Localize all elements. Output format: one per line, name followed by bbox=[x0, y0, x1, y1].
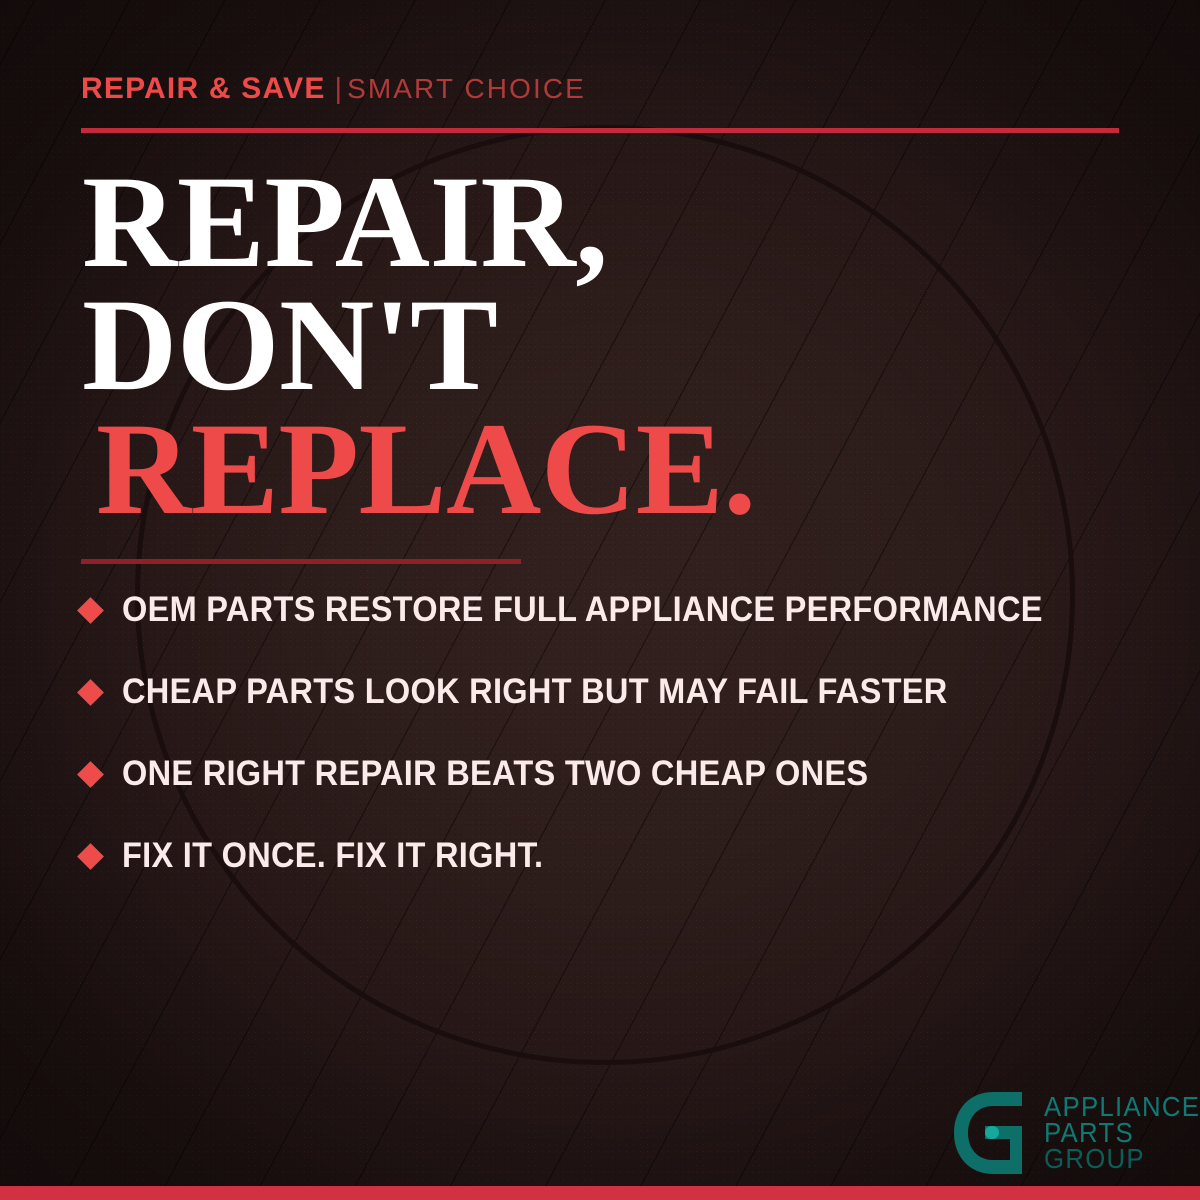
diamond-bullet-icon bbox=[77, 761, 104, 788]
list-item-label: CHEAP PARTS LOOK RIGHT BUT MAY FAIL FAST… bbox=[122, 672, 948, 712]
list-item-label: FIX IT ONCE. FIX IT RIGHT. bbox=[122, 836, 543, 876]
brand-logo-wordmark: APPLIANCE PARTS GROUP bbox=[1044, 1092, 1200, 1172]
headline-line-3-accent: REPLACE. bbox=[82, 407, 756, 530]
g-monogram-icon bbox=[952, 1092, 1030, 1174]
headline-line-1: REPAIR, bbox=[82, 160, 756, 283]
poster-content: REPAIR & SAVE|SMART CHOICE REPAIR, DON'T… bbox=[0, 0, 1200, 1200]
list-item-label: ONE RIGHT REPAIR BEATS TWO CHEAP ONES bbox=[122, 754, 868, 794]
brand-line-3: GROUP bbox=[1044, 1146, 1200, 1172]
headline: REPAIR, DON'T REPLACE. bbox=[82, 160, 756, 530]
headline-line-2: DON'T bbox=[82, 283, 756, 406]
promo-poster: REPAIR & SAVE|SMART CHOICE REPAIR, DON'T… bbox=[0, 0, 1200, 1200]
list-item: FIX IT ONCE. FIX IT RIGHT. bbox=[81, 834, 1151, 878]
list-item: OEM PARTS RESTORE FULL APPLIANCE PERFORM… bbox=[81, 588, 1151, 632]
eyebrow-strong-text: REPAIR & SAVE bbox=[81, 72, 326, 105]
list-item: CHEAP PARTS LOOK RIGHT BUT MAY FAIL FAST… bbox=[81, 670, 1151, 714]
eyebrow-separator: | bbox=[335, 73, 343, 105]
eyebrow-soft-text: SMART CHOICE bbox=[347, 73, 586, 104]
top-divider-rule bbox=[81, 128, 1119, 133]
list-item-label: OEM PARTS RESTORE FULL APPLIANCE PERFORM… bbox=[122, 590, 1043, 630]
list-item: ONE RIGHT REPAIR BEATS TWO CHEAP ONES bbox=[81, 752, 1151, 796]
bottom-accent-bar bbox=[0, 1186, 1200, 1200]
mid-divider-rule bbox=[81, 559, 521, 564]
benefits-list: OEM PARTS RESTORE FULL APPLIANCE PERFORM… bbox=[81, 588, 1151, 878]
logo-dot-icon bbox=[985, 1126, 999, 1139]
eyebrow: REPAIR & SAVE|SMART CHOICE bbox=[81, 74, 586, 104]
diamond-bullet-icon bbox=[77, 679, 104, 706]
brand-logo: APPLIANCE PARTS GROUP bbox=[952, 1092, 1200, 1174]
diamond-bullet-icon bbox=[77, 597, 104, 624]
diamond-bullet-icon bbox=[77, 843, 104, 870]
